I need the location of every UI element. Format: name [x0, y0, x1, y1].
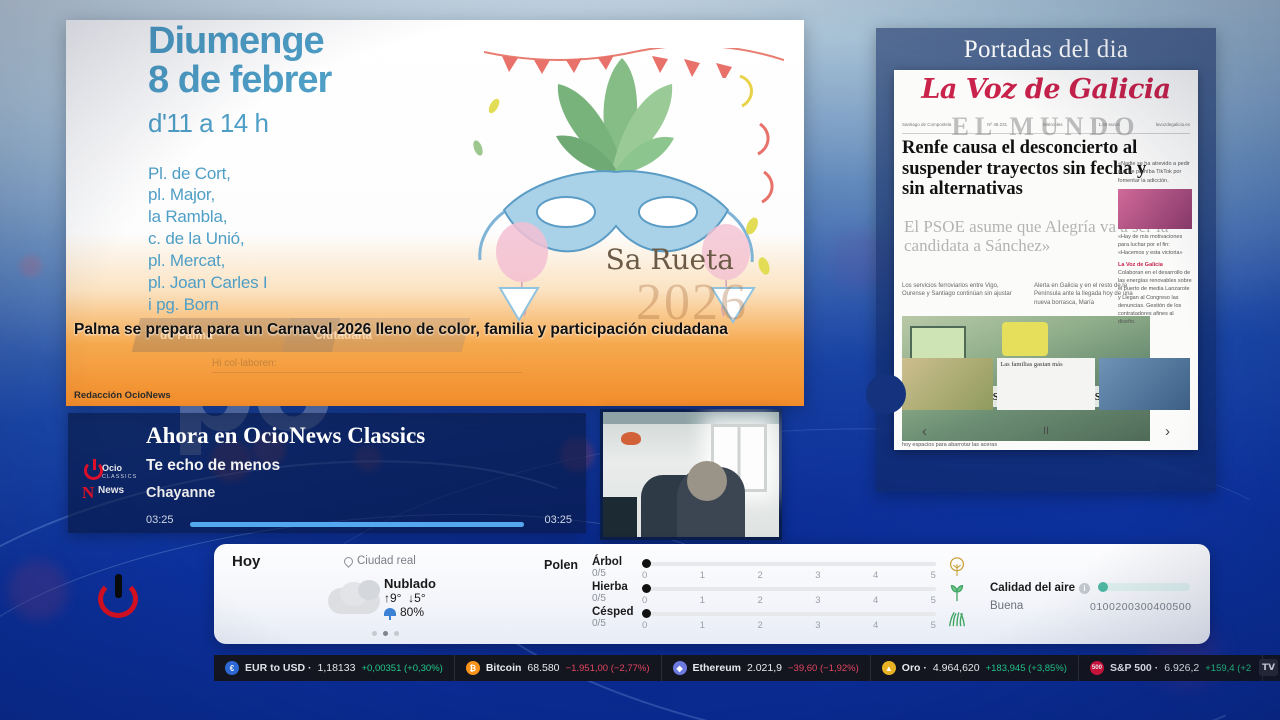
sp500-icon: 500: [1090, 661, 1104, 675]
tree-icon: [946, 556, 968, 578]
air-quality-marker: [1098, 582, 1108, 592]
progress-bar[interactable]: [190, 522, 524, 527]
news-card[interactable]: Sa Rueta 2026 Diumenge 8 de febrer d'11 …: [66, 20, 804, 406]
poster-location: pl. Mercat,: [148, 250, 478, 272]
footer-photo: [1099, 358, 1190, 410]
air-quality-title: Calidad del aire: [990, 582, 1075, 594]
tick: 5: [931, 620, 936, 631]
now-playing-label: Ahora en OcioNews Classics: [146, 423, 425, 449]
newspaper-meta-row: Santiago de CompostelaNº 48.231Miércoles…: [902, 122, 1190, 127]
ticker-item[interactable]: ◆ Ethereum 2.021,9 −39,60 (−1,92%): [662, 655, 871, 681]
cloud-icon: [328, 580, 384, 614]
tick: 0: [642, 620, 647, 631]
tick: 4: [873, 620, 878, 631]
ticker-name: EUR to USD ·: [245, 662, 312, 674]
news-headline: Palma se prepara para un Carnaval 2026 l…: [74, 320, 790, 340]
pollen-rows: Árbol 0/5 0 1 2 3 4 5 Hierba 0/5 0: [592, 556, 952, 631]
pollen-score: 0/5: [592, 618, 606, 629]
eurusd-icon: €: [225, 661, 239, 675]
newspaper-photo-caption: hoy espacios para abarrotar las aceras: [902, 442, 1102, 448]
papers-panel-title: Portadas del dia: [876, 28, 1216, 70]
carousel-next-icon[interactable]: ›: [1165, 423, 1170, 440]
poster-location: i pg. Born: [148, 294, 478, 316]
weather-temps: ↑9° ↓5°: [384, 591, 426, 605]
tick: 2: [757, 570, 762, 581]
pollen-ticks: 0 1 2 3 4 5: [642, 620, 936, 631]
poster-date: 8 de febrer: [148, 61, 478, 100]
tick: 0: [642, 595, 647, 606]
tick: 3: [815, 570, 820, 581]
carousel-dot-active[interactable]: [383, 631, 388, 636]
location-name: Ciudad real: [357, 555, 416, 567]
precipitation-row: 80%: [384, 605, 424, 619]
poster-locations: Pl. de Cort, pl. Major, la Rambla, c. de…: [148, 163, 478, 316]
track-title: Te echo de menos: [146, 457, 280, 475]
tick: 0: [642, 570, 647, 581]
desktop-screen: po: [0, 0, 1280, 720]
total-time: 03:25: [544, 514, 572, 526]
newspaper-headline: Renfe causa el desconcierto al suspender…: [902, 138, 1147, 200]
power-bar-icon: [115, 574, 122, 598]
pollen-name: Hierba: [592, 581, 628, 593]
bitcoin-icon: ₿: [466, 661, 480, 675]
pollen-row: Árbol 0/5 0 1 2 3 4 5: [592, 556, 952, 581]
location-row[interactable]: Ciudad real: [344, 555, 416, 567]
ocionews-classics-logo: Ocio CLASSICS N News: [82, 459, 138, 503]
newspaper-front-page[interactable]: La Voz de Galicia EL MUNDO Santiago de C…: [894, 70, 1198, 450]
ticker-change: +0,00351 (+0,30%): [361, 663, 442, 674]
power-bar-icon: [93, 459, 96, 470]
wall-object: [621, 432, 641, 445]
pollen-marker: [642, 584, 651, 593]
weather-condition: Nublado: [384, 576, 436, 591]
pollen-name: Césped: [592, 606, 634, 618]
progress-fill: [190, 522, 524, 527]
elapsed-time: 03:25: [146, 514, 174, 526]
ticker-price: 1,18133: [318, 662, 356, 674]
pollen-marker: [642, 609, 651, 618]
tick: 4: [873, 570, 878, 581]
track-artist: Chayanne: [146, 485, 215, 501]
side-column-text: «Hay de mis motivaciones para luchar por…: [1118, 233, 1192, 258]
tick: 2: [757, 620, 762, 631]
market-ticker[interactable]: € EUR to USD · 1,18133 +0,00351 (+0,30%)…: [214, 655, 1280, 681]
newspaper-masthead: La Voz de Galicia: [894, 70, 1198, 105]
pollen-name: Árbol: [592, 556, 622, 568]
ticker-change: +159,4 (+2: [1205, 663, 1251, 674]
pollen-marker: [642, 559, 651, 568]
bokeh-light: [20, 255, 42, 277]
ticker-name: Bitcoin: [486, 662, 522, 674]
pollen-score: 0/5: [592, 593, 606, 604]
air-quality-label: Calidad del airei: [990, 582, 1090, 594]
tradingview-badge[interactable]: TV: [1259, 659, 1278, 676]
tick: 1: [700, 570, 705, 581]
tick: 1: [700, 595, 705, 606]
precip-value: 80%: [400, 605, 424, 619]
poster-location: pl. Joan Carles I: [148, 272, 478, 294]
pollen-track: [644, 587, 936, 591]
pollen-track: [644, 562, 936, 566]
air-quality-value: Buena: [990, 600, 1023, 612]
weather-carousel-dots[interactable]: [372, 631, 399, 636]
ticker-item[interactable]: ₿ Bitcoin 68.580 −1.951,00 (−2,77%): [455, 655, 662, 681]
gold-icon: ▲: [882, 661, 896, 675]
ticker-change: +183,945 (+3,85%): [986, 663, 1067, 674]
tick: 2: [757, 595, 762, 606]
low-temp: 5°: [414, 591, 425, 605]
logo-sub: CLASSICS: [102, 474, 137, 480]
herb-icon: [946, 581, 968, 603]
poster-location: la Rambla,: [148, 206, 478, 228]
tick: 5: [931, 570, 936, 581]
ticker-price: 4.964,620: [933, 662, 980, 674]
air-quality-track: [1098, 583, 1190, 591]
info-icon[interactable]: i: [1079, 583, 1090, 594]
ticker-price: 68.580: [527, 662, 559, 674]
footer-photo: [902, 358, 993, 410]
logo-brand2: News: [98, 485, 124, 496]
tick: 3: [815, 595, 820, 606]
pollen-ticks: 0 1 2 3 4 5: [642, 595, 936, 606]
pollen-score: 0/5: [592, 568, 606, 579]
side-column-photo: [1118, 189, 1192, 229]
poster-text-block: Diumenge 8 de febrer d'11 a 14 h Pl. de …: [148, 22, 478, 316]
collab-label: Hi col·laboren:: [212, 358, 276, 369]
logo-brand: Ocio: [102, 463, 122, 473]
decor-circle: [866, 374, 906, 414]
pollen-row: Hierba 0/5 0 1 2 3 4 5: [592, 581, 952, 606]
pollen-ticks: 0 1 2 3 4 5: [642, 570, 936, 581]
ticker-name: S&P 500 ·: [1110, 662, 1158, 674]
webcam-video-tile[interactable]: [600, 409, 782, 540]
pollen-row: Césped 0/5 0 1 2 3 4 5: [592, 606, 952, 631]
person-head: [687, 461, 727, 501]
event-name: Sa Rueta: [606, 243, 734, 276]
today-label: Hoy: [232, 553, 260, 570]
poster-location: Pl. de Cort,: [148, 163, 478, 185]
ethereum-icon: ◆: [673, 661, 687, 675]
ticker-name: Oro ·: [902, 662, 927, 674]
carousel-pause-icon[interactable]: II: [1043, 425, 1049, 437]
ticker-change: −1.951,00 (−2,77%): [566, 663, 650, 674]
air-quality-scale: 0100200300400500: [1090, 601, 1191, 613]
webcam-scene: [603, 412, 779, 537]
newspaper-subdeck-left: Los servicios ferroviarios entre Vigo, O…: [902, 282, 1022, 299]
footer-text: Las familias gastan más: [997, 358, 1094, 410]
logo-n-mark: N: [82, 483, 94, 503]
ticker-price: 2.021,9: [747, 662, 782, 674]
pollen-track: [644, 612, 936, 616]
ticker-item[interactable]: € EUR to USD · 1,18133 +0,00351 (+0,30%): [214, 655, 455, 681]
pollen-label: Polen: [544, 558, 578, 572]
tick: 1: [700, 620, 705, 631]
newspaper-side-column: «Nadie se ha atrevido a pedir que se pro…: [1118, 160, 1192, 327]
grass-icon: [946, 606, 968, 628]
music-player-widget[interactable]: Ocio CLASSICS N News Ahora en OcioNews C…: [68, 413, 586, 533]
ticker-price: 6.926,2: [1164, 662, 1199, 674]
poster-day: Diumenge: [148, 22, 478, 61]
carousel-prev-icon[interactable]: ‹: [922, 423, 927, 440]
high-temp: 9°: [390, 591, 401, 605]
tick: 4: [873, 595, 878, 606]
newspaper-footer-strip: Las familias gastan más: [902, 358, 1190, 410]
newspaper-masthead-ghost: EL MUNDO: [894, 112, 1198, 142]
location-pin-icon: [342, 555, 355, 568]
carousel-dot[interactable]: [372, 631, 377, 636]
umbrella-icon: [384, 608, 396, 616]
tick: 3: [815, 620, 820, 631]
power-button[interactable]: [96, 572, 144, 620]
poster-location: c. de la Unió,: [148, 228, 478, 250]
ticker-name: Ethereum: [693, 662, 741, 674]
newspaper-covers-panel[interactable]: Portadas del dia La Voz de Galicia EL MU…: [876, 28, 1216, 492]
carousel-dot[interactable]: [394, 631, 399, 636]
poster-location: pl. Major,: [148, 184, 478, 206]
ticker-item[interactable]: ▲ Oro · 4.964,620 +183,945 (+3,85%): [871, 655, 1079, 681]
news-source: Redacción OcioNews: [74, 390, 171, 401]
newspaper-carousel-nav: ‹ II ›: [912, 420, 1180, 442]
poster-hours: d'11 a 14 h: [148, 108, 478, 139]
carnival-mask-illustration: Sa Rueta 2026: [464, 20, 794, 350]
ticker-item[interactable]: 500 S&P 500 · 6.926,2 +159,4 (+2: [1079, 655, 1263, 681]
bokeh-light: [8, 560, 68, 620]
ticker-change: −39,60 (−1,92%): [788, 663, 859, 674]
tick: 5: [931, 595, 936, 606]
